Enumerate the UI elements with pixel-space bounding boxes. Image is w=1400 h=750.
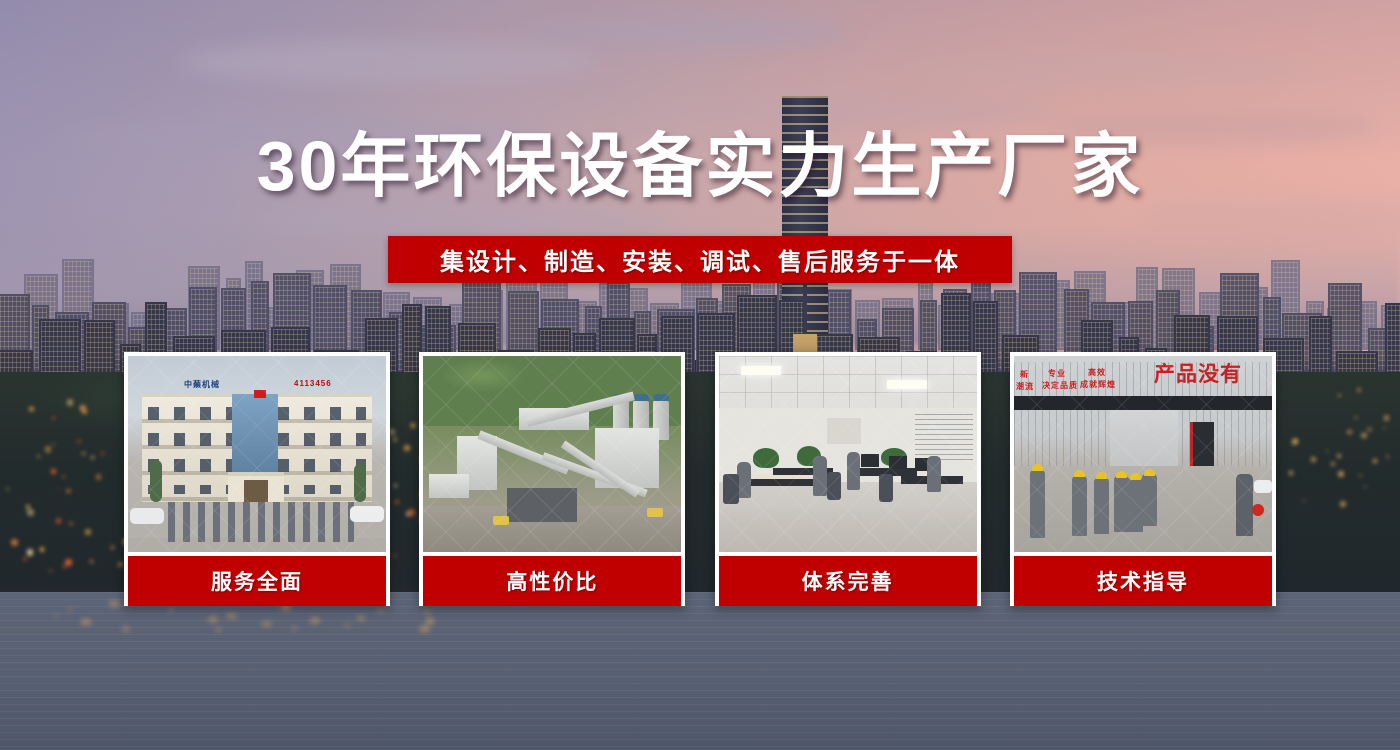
worker	[1030, 470, 1045, 538]
staff-row	[164, 502, 354, 542]
water-light-reflection	[425, 610, 429, 615]
street-light	[96, 474, 102, 480]
car-icon	[130, 508, 164, 524]
street-light	[91, 456, 94, 459]
card-caption-bar: 服务全面	[128, 556, 386, 606]
subtitle-banner: 集设计、制造、安装、调试、售后服务于一体	[388, 236, 1012, 283]
factory-side-door	[1190, 422, 1214, 466]
photo-office-interior	[719, 356, 977, 552]
street-light	[90, 560, 93, 563]
water-light-reflection	[122, 627, 130, 631]
street-light	[1367, 427, 1372, 432]
cloud-streak	[520, 18, 850, 48]
street-light	[77, 440, 81, 444]
card-caption-bar: 高性价比	[423, 556, 681, 606]
card-caption-label: 高性价比	[506, 566, 598, 596]
feature-card-service[interactable]: 中蕪机械 4113456 服务全面	[124, 352, 390, 606]
loading-shed	[507, 488, 577, 522]
water-light-reflection	[109, 601, 119, 606]
cloud-streak	[640, 96, 1060, 128]
monitor	[889, 456, 907, 469]
ceiling-light-panel	[741, 366, 781, 375]
feature-card-list: 中蕪机械 4113456 服务全面	[124, 352, 1276, 606]
water-light-reflection	[216, 628, 220, 632]
site-office	[429, 474, 469, 498]
office-chair	[827, 472, 841, 500]
street-light	[1289, 471, 1292, 474]
factory-slogan-2-sub: 决定品质	[1042, 381, 1078, 390]
tree-icon	[354, 464, 366, 502]
street-light	[66, 489, 71, 494]
potted-plant-icon	[753, 448, 779, 468]
street-light	[1326, 450, 1328, 452]
street-light	[118, 562, 123, 567]
street-light	[27, 549, 33, 555]
street-light	[58, 488, 60, 490]
office-worker	[737, 462, 751, 498]
street-light	[1359, 474, 1362, 477]
hard-hat-icon	[1032, 464, 1043, 471]
street-light	[1386, 455, 1389, 458]
street-light	[62, 476, 65, 479]
river-water	[0, 592, 1400, 750]
street-light	[40, 547, 44, 551]
street-light	[1338, 471, 1344, 477]
cloud-streak	[180, 40, 600, 84]
street-light	[69, 522, 73, 526]
office-worker	[847, 452, 860, 490]
water-light-reflection	[419, 626, 431, 632]
water-light-reflection	[81, 619, 91, 625]
subtitle-text: 集设计、制造、安装、调试、售后服务于一体	[440, 242, 960, 277]
street-light	[65, 559, 72, 566]
street-light	[67, 399, 73, 405]
street-light	[111, 546, 114, 549]
street-light	[1338, 394, 1341, 397]
cloud-streak	[900, 52, 1320, 92]
excavator-icon	[493, 516, 509, 525]
street-light	[1347, 430, 1351, 434]
hard-hat-icon	[1074, 470, 1085, 477]
street-light	[1354, 416, 1357, 419]
street-light	[23, 557, 27, 561]
hard-hat-icon	[1130, 473, 1141, 480]
street-light	[29, 407, 33, 411]
water-light-reflection	[226, 614, 238, 618]
photo-industrial-plant	[423, 356, 681, 552]
worker	[1072, 476, 1087, 536]
office-chair	[879, 474, 893, 502]
factory-slogan-1-sub: 潮流	[1016, 382, 1034, 391]
factory-slogan-1: 新	[1020, 370, 1029, 379]
window-blinds	[915, 414, 973, 460]
car-icon	[350, 506, 384, 522]
office-ceiling	[719, 356, 977, 408]
street-light	[1364, 485, 1367, 488]
street-light	[1303, 500, 1305, 502]
street-light	[1294, 439, 1298, 443]
factory-roll-gate	[1110, 410, 1178, 466]
street-light	[1340, 501, 1345, 506]
water-light-reflection	[55, 614, 58, 617]
hard-hat-icon	[1116, 471, 1127, 478]
water-light-reflection	[208, 617, 218, 622]
feature-card-value[interactable]: 高性价比	[419, 352, 685, 606]
street-light	[52, 443, 56, 447]
street-light	[37, 455, 40, 458]
factory-slogan-3-sub: 成就辉煌	[1080, 380, 1116, 389]
hard-hat-icon	[1144, 469, 1155, 476]
factory-dark-band	[1014, 396, 1272, 410]
factory-slogan-2: 专业	[1048, 369, 1066, 378]
photo-company-headquarters: 中蕪机械 4113456	[128, 356, 386, 552]
hero-banner: 30年环保设备实力生产厂家 集设计、制造、安装、调试、售后服务于一体 中蕪机械 …	[0, 0, 1400, 750]
excavator-icon	[647, 508, 663, 517]
street-light	[11, 539, 18, 546]
water-light-reflection	[343, 625, 351, 627]
street-light	[1384, 415, 1389, 420]
water-light-reflection	[261, 622, 272, 627]
street-light	[27, 509, 34, 516]
street-light	[1311, 457, 1316, 462]
street-light	[45, 446, 51, 452]
silo-cap	[633, 394, 649, 401]
company-sign-text: 中蕪机械	[184, 379, 220, 390]
street-light	[82, 409, 88, 415]
feature-card-guidance[interactable]: 产品没有 新 潮流 专业 决定品质 高效 成就辉煌	[1010, 352, 1276, 606]
photo-factory-exterior: 产品没有 新 潮流 专业 决定品质 高效 成就辉煌	[1014, 356, 1272, 552]
factory-slogan-3: 高效	[1088, 368, 1106, 377]
street-light	[101, 452, 104, 455]
street-light	[1361, 433, 1367, 439]
hard-hat-icon	[1096, 472, 1107, 479]
tree-icon	[150, 460, 162, 502]
street-light	[1373, 459, 1376, 462]
water-light-reflection	[310, 618, 320, 622]
red-hard-hat-icon	[1252, 504, 1264, 516]
street-light	[6, 488, 8, 490]
ceiling-light-panel	[887, 380, 927, 389]
street-light	[51, 469, 56, 474]
street-light	[56, 518, 62, 524]
glass-atrium	[232, 394, 278, 480]
office-worker	[813, 456, 827, 496]
water-light-reflection	[375, 610, 384, 612]
worker	[1114, 476, 1129, 532]
feature-card-system[interactable]: 体系完善	[715, 352, 981, 606]
factory-headline-text: 产品没有	[1154, 364, 1242, 385]
street-light	[63, 565, 66, 568]
street-light	[85, 529, 91, 535]
card-caption-label: 技术指导	[1097, 566, 1189, 596]
entrance-door	[244, 480, 268, 502]
silo-cap	[653, 394, 669, 401]
street-light	[1331, 462, 1335, 466]
street-light	[1337, 454, 1341, 458]
water-light-reflection	[68, 608, 72, 610]
water-light-reflection	[292, 627, 296, 630]
page-title: 30年环保设备实力生产厂家	[0, 131, 1400, 201]
water-light-reflection	[357, 616, 366, 619]
monitor	[861, 454, 879, 467]
card-caption-label: 体系完善	[802, 566, 894, 596]
card-caption-label: 服务全面	[211, 566, 303, 596]
worker	[1142, 474, 1157, 526]
water-reflections	[0, 592, 1400, 750]
street-light	[1357, 388, 1361, 392]
phone-number-text: 4113456	[294, 379, 332, 388]
office-worker	[927, 456, 941, 492]
office-floor	[719, 508, 977, 552]
card-caption-bar: 体系完善	[719, 556, 977, 606]
water-light-reflection	[170, 607, 173, 611]
car-icon	[1254, 480, 1272, 493]
worker	[1094, 478, 1109, 534]
office-chair	[723, 474, 739, 504]
supervisor	[1236, 474, 1253, 536]
card-caption-bar: 技术指导	[1014, 556, 1272, 606]
street-light	[49, 569, 52, 572]
street-light	[1383, 427, 1385, 429]
flag-icon	[254, 390, 266, 398]
worker	[1128, 478, 1143, 532]
street-light	[82, 452, 85, 455]
street-light	[52, 417, 55, 420]
wall-logo	[827, 418, 861, 444]
